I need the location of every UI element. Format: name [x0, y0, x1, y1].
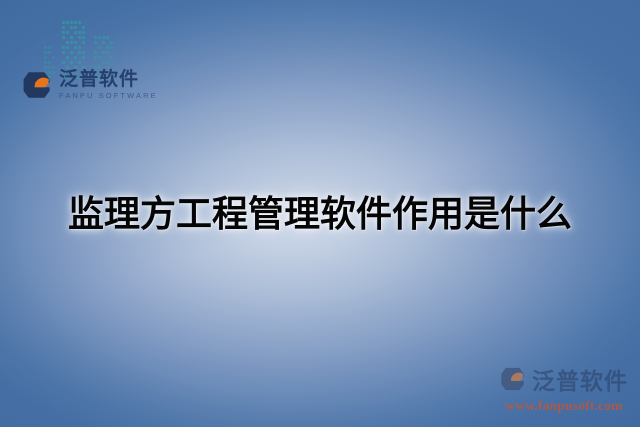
promo-banner: 泛普软件 FANPU SOFTWARE 监理方工程管理软件作用是什么 泛普软件 …	[0, 0, 640, 427]
brand-name-en: FANPU SOFTWARE	[59, 92, 158, 100]
brand-logo-text: 泛普软件 FANPU SOFTWARE	[59, 70, 158, 100]
watermark-url: www.fanpusoft.com	[505, 398, 622, 414]
headline-title: 监理方工程管理软件作用是什么	[0, 192, 640, 236]
watermark-brand-name: 泛普软件	[532, 362, 628, 396]
fanpu-logo-mark-icon	[500, 366, 526, 392]
brand-name-cn: 泛普软件	[59, 70, 158, 89]
fanpu-logo-mark-icon	[22, 70, 52, 100]
brand-logo-header[interactable]: 泛普软件 FANPU SOFTWARE	[22, 70, 158, 100]
brand-watermark: 泛普软件 www.fanpusoft.com	[500, 362, 628, 414]
watermark-logo-row: 泛普软件	[500, 362, 628, 396]
